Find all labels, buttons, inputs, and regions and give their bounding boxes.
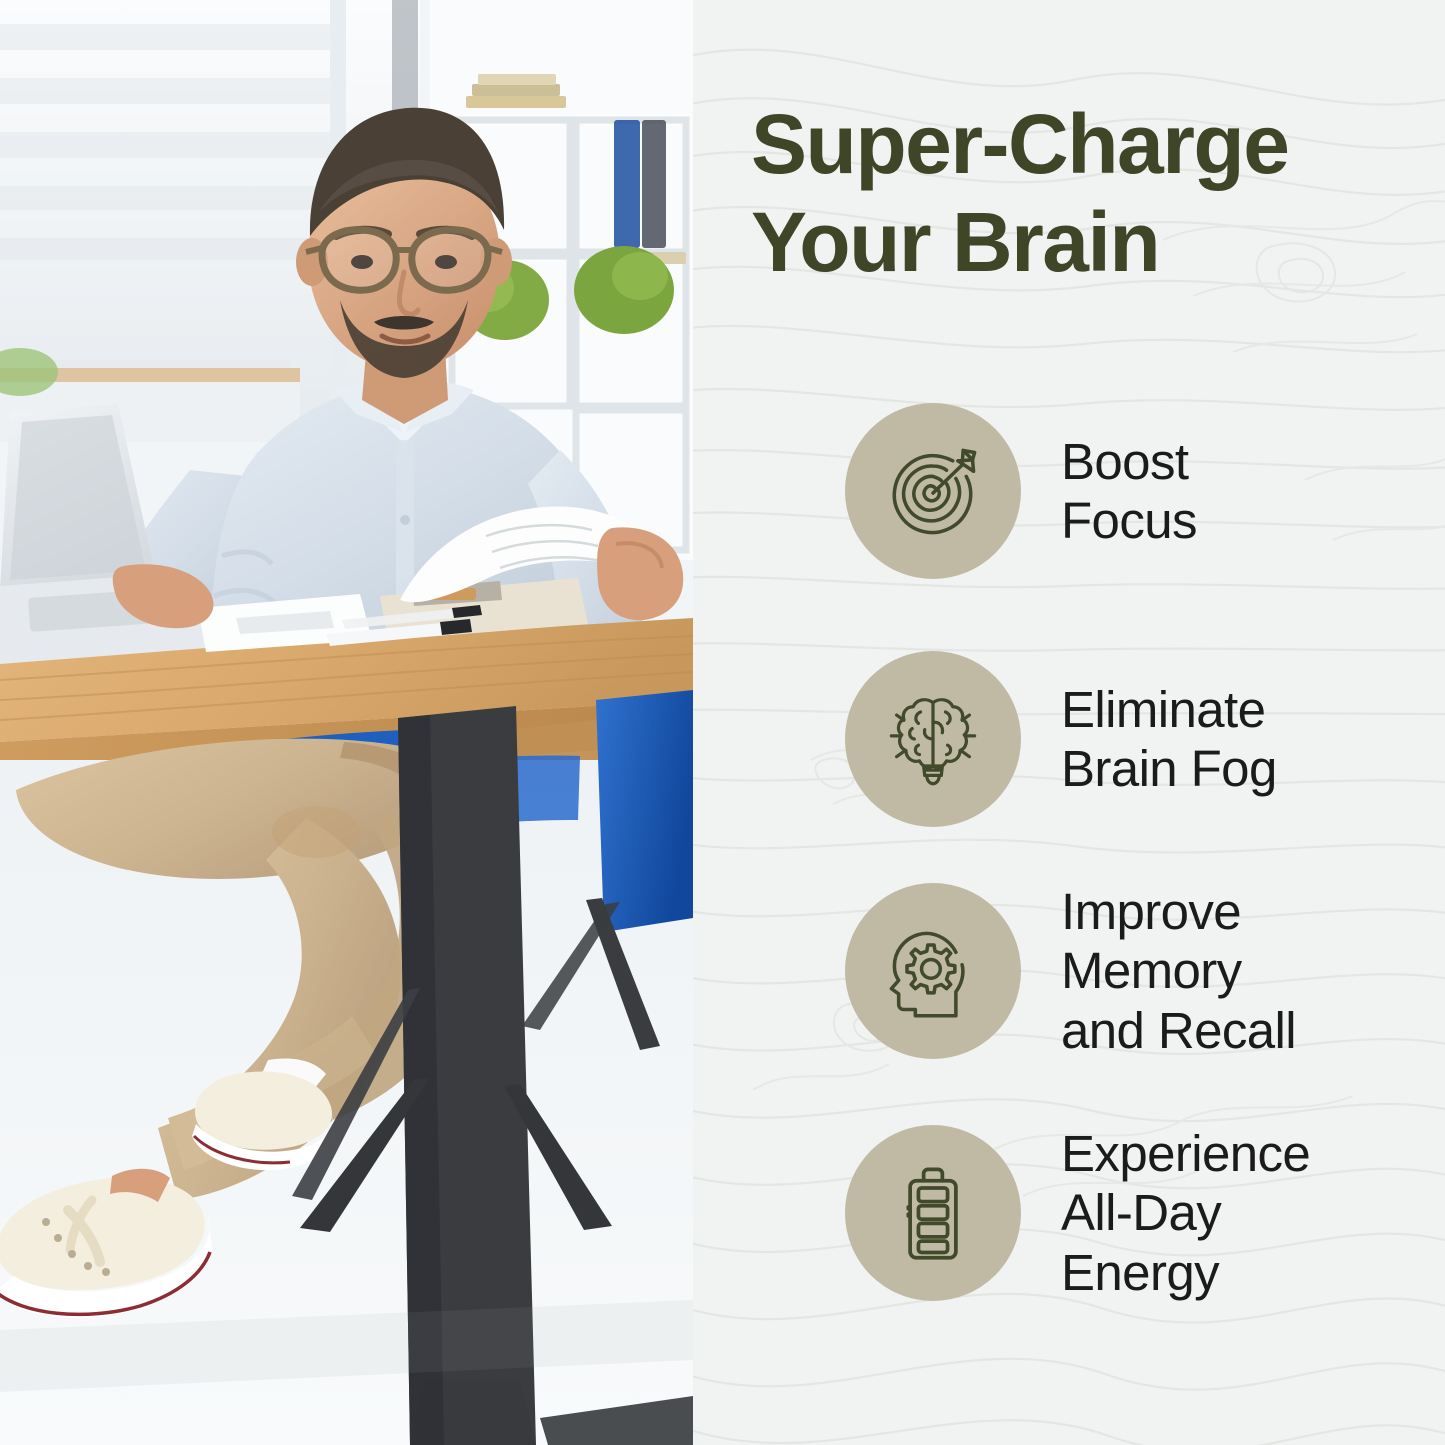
icon-badge-target bbox=[845, 403, 1021, 579]
benefit-label: Boost Focus bbox=[1061, 432, 1445, 550]
icon-badge-head-gear bbox=[845, 883, 1021, 1059]
benefit-item-all-day-energy: Experience All-Day Energy bbox=[693, 1120, 1445, 1306]
target-arrow-icon bbox=[881, 439, 985, 543]
benefit-label: Experience All-Day Energy bbox=[1061, 1124, 1445, 1301]
headline-line-1: Super-Charge bbox=[751, 95, 1431, 193]
benefit-label: Improve Memory and Recall bbox=[1061, 882, 1445, 1059]
content-panel: Super-Charge Your Brain bbox=[693, 0, 1445, 1445]
infographic-canvas: Super-Charge Your Brain bbox=[0, 0, 1445, 1445]
head-gear-icon bbox=[881, 919, 985, 1023]
benefit-item-improve-memory: Improve Memory and Recall bbox=[693, 878, 1445, 1064]
headline-line-2: Your Brain bbox=[751, 193, 1431, 291]
brain-lightbulb-icon bbox=[881, 687, 985, 791]
icon-badge-battery bbox=[845, 1125, 1021, 1301]
icon-badge-brain-bulb bbox=[845, 651, 1021, 827]
page-title: Super-Charge Your Brain bbox=[751, 95, 1431, 292]
benefit-item-boost-focus: Boost Focus bbox=[693, 398, 1445, 584]
battery-full-icon bbox=[881, 1161, 985, 1265]
office-scene-illustration bbox=[0, 0, 693, 1445]
benefit-label: Eliminate Brain Fog bbox=[1061, 680, 1445, 798]
benefit-item-eliminate-brain-fog: Eliminate Brain Fog bbox=[693, 646, 1445, 832]
hero-photo bbox=[0, 0, 693, 1445]
